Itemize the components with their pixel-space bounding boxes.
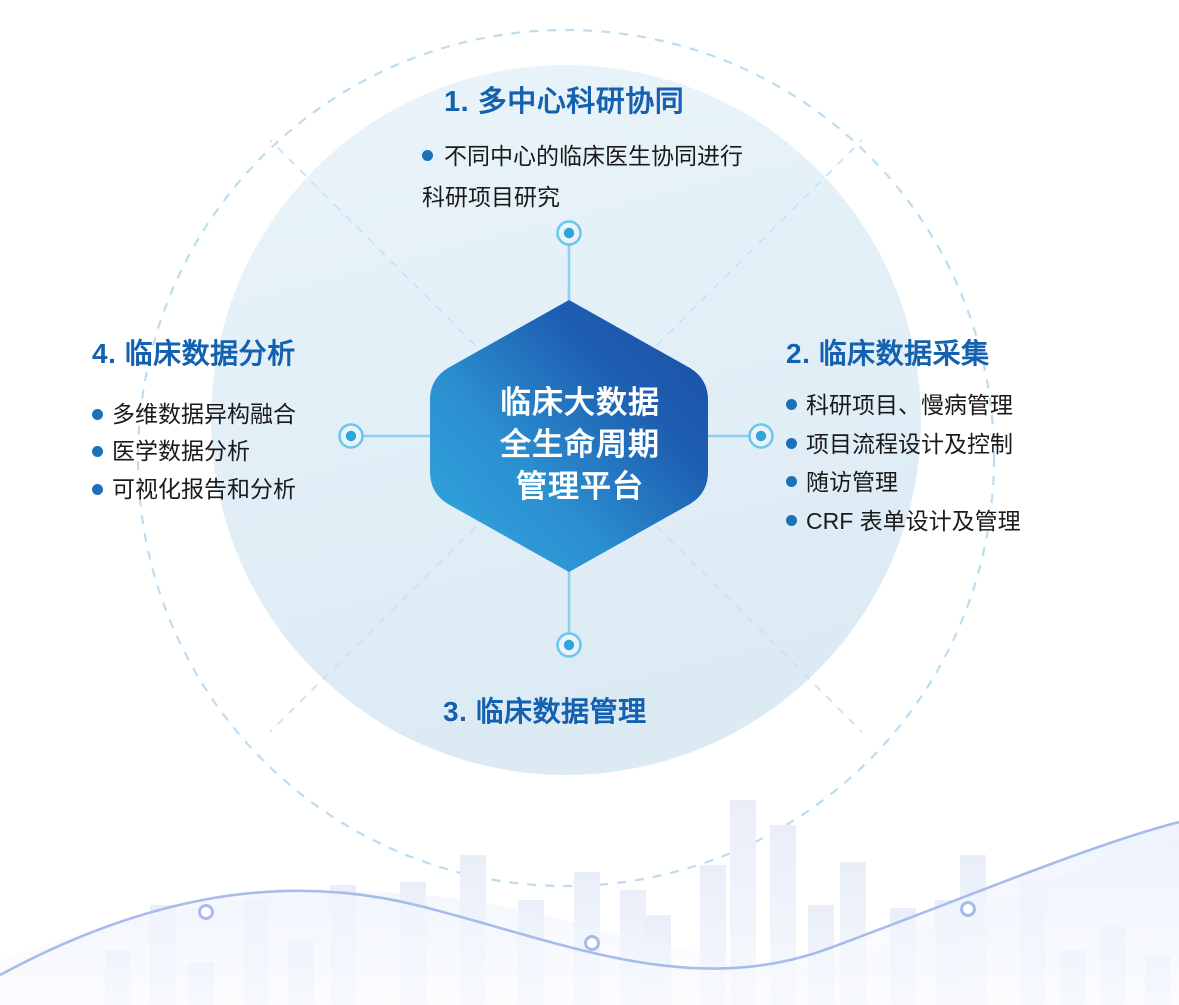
list-item[interactable]: 可视化报告和分析 — [92, 471, 392, 508]
list-item-label: 可视化报告和分析 — [112, 471, 296, 508]
connector-node-right[interactable] — [750, 425, 773, 448]
bullet-dot-icon — [786, 476, 797, 487]
connector-node-bottom[interactable] — [558, 634, 581, 657]
list-item-label: 科研项目、慢病管理 — [806, 386, 1013, 425]
section-title-right: 2. 临床数据采集 — [786, 332, 1126, 372]
center-line-1: 临床大数据 — [500, 382, 660, 424]
list-item[interactable]: 项目流程设计及控制 — [786, 425, 1126, 464]
bullet-dot-icon — [422, 150, 433, 161]
wave-marker-1 — [200, 906, 213, 919]
diagram-canvas: 临床大数据 全生命周期 管理平台 1. 多中心科研协同 不同中心的临床医生协同进… — [0, 0, 1179, 1005]
section-list-right: 科研项目、慢病管理 项目流程设计及控制 随访管理 CRF 表单设计及管理 — [786, 386, 1126, 541]
bullet-dot-icon — [92, 409, 103, 420]
section-title-bottom: 3. 临床数据管理 — [443, 690, 647, 730]
wave-marker-3 — [962, 903, 975, 916]
section-clinical-data-management[interactable]: 3. 临床数据管理 — [443, 690, 647, 730]
bullet-dot-icon — [92, 446, 103, 457]
section-list-left: 多维数据异构融合 医学数据分析 可视化报告和分析 — [92, 396, 392, 508]
connector-node-top[interactable] — [558, 222, 581, 245]
list-item-label: 多维数据异构融合 — [112, 396, 296, 433]
list-item-label: CRF 表单设计及管理 — [806, 502, 1021, 541]
section-title-top: 1. 多中心科研协同 — [444, 78, 752, 120]
section-title-left: 4. 临床数据分析 — [92, 332, 392, 372]
center-line-2: 全生命周期 — [500, 424, 660, 466]
bullet-dot-icon — [786, 515, 797, 526]
section-body-top-text: 不同中心的临床医生协同进行科研项目研究 — [422, 143, 743, 210]
list-item-label: 随访管理 — [806, 463, 898, 502]
center-hexagon-label-wrap: 临床大数据 全生命周期 管理平台 — [450, 300, 710, 590]
center-line-3: 管理平台 — [516, 466, 644, 508]
list-item[interactable]: 科研项目、慢病管理 — [786, 386, 1126, 425]
bullet-dot-icon — [786, 399, 797, 410]
section-multi-center-research[interactable]: 1. 多中心科研协同 不同中心的临床医生协同进行科研项目研究 — [422, 78, 752, 218]
bullet-dot-icon — [786, 438, 797, 449]
wave-marker-2 — [586, 937, 599, 950]
list-item[interactable]: 医学数据分析 — [92, 433, 392, 470]
list-item-label: 项目流程设计及控制 — [806, 425, 1013, 464]
section-clinical-data-analysis[interactable]: 4. 临床数据分析 多维数据异构融合 医学数据分析 可视化报告和分析 — [92, 332, 392, 508]
list-item[interactable]: 随访管理 — [786, 463, 1126, 502]
list-item[interactable]: CRF 表单设计及管理 — [786, 502, 1126, 541]
bullet-dot-icon — [92, 484, 103, 495]
center-hexagon-label: 临床大数据 全生命周期 管理平台 — [450, 300, 710, 590]
section-body-top: 不同中心的临床医生协同进行科研项目研究 — [422, 136, 752, 218]
list-item-label: 医学数据分析 — [112, 433, 250, 470]
section-clinical-data-collection[interactable]: 2. 临床数据采集 科研项目、慢病管理 项目流程设计及控制 随访管理 CRF 表… — [786, 332, 1126, 541]
list-item[interactable]: 多维数据异构融合 — [92, 396, 392, 433]
